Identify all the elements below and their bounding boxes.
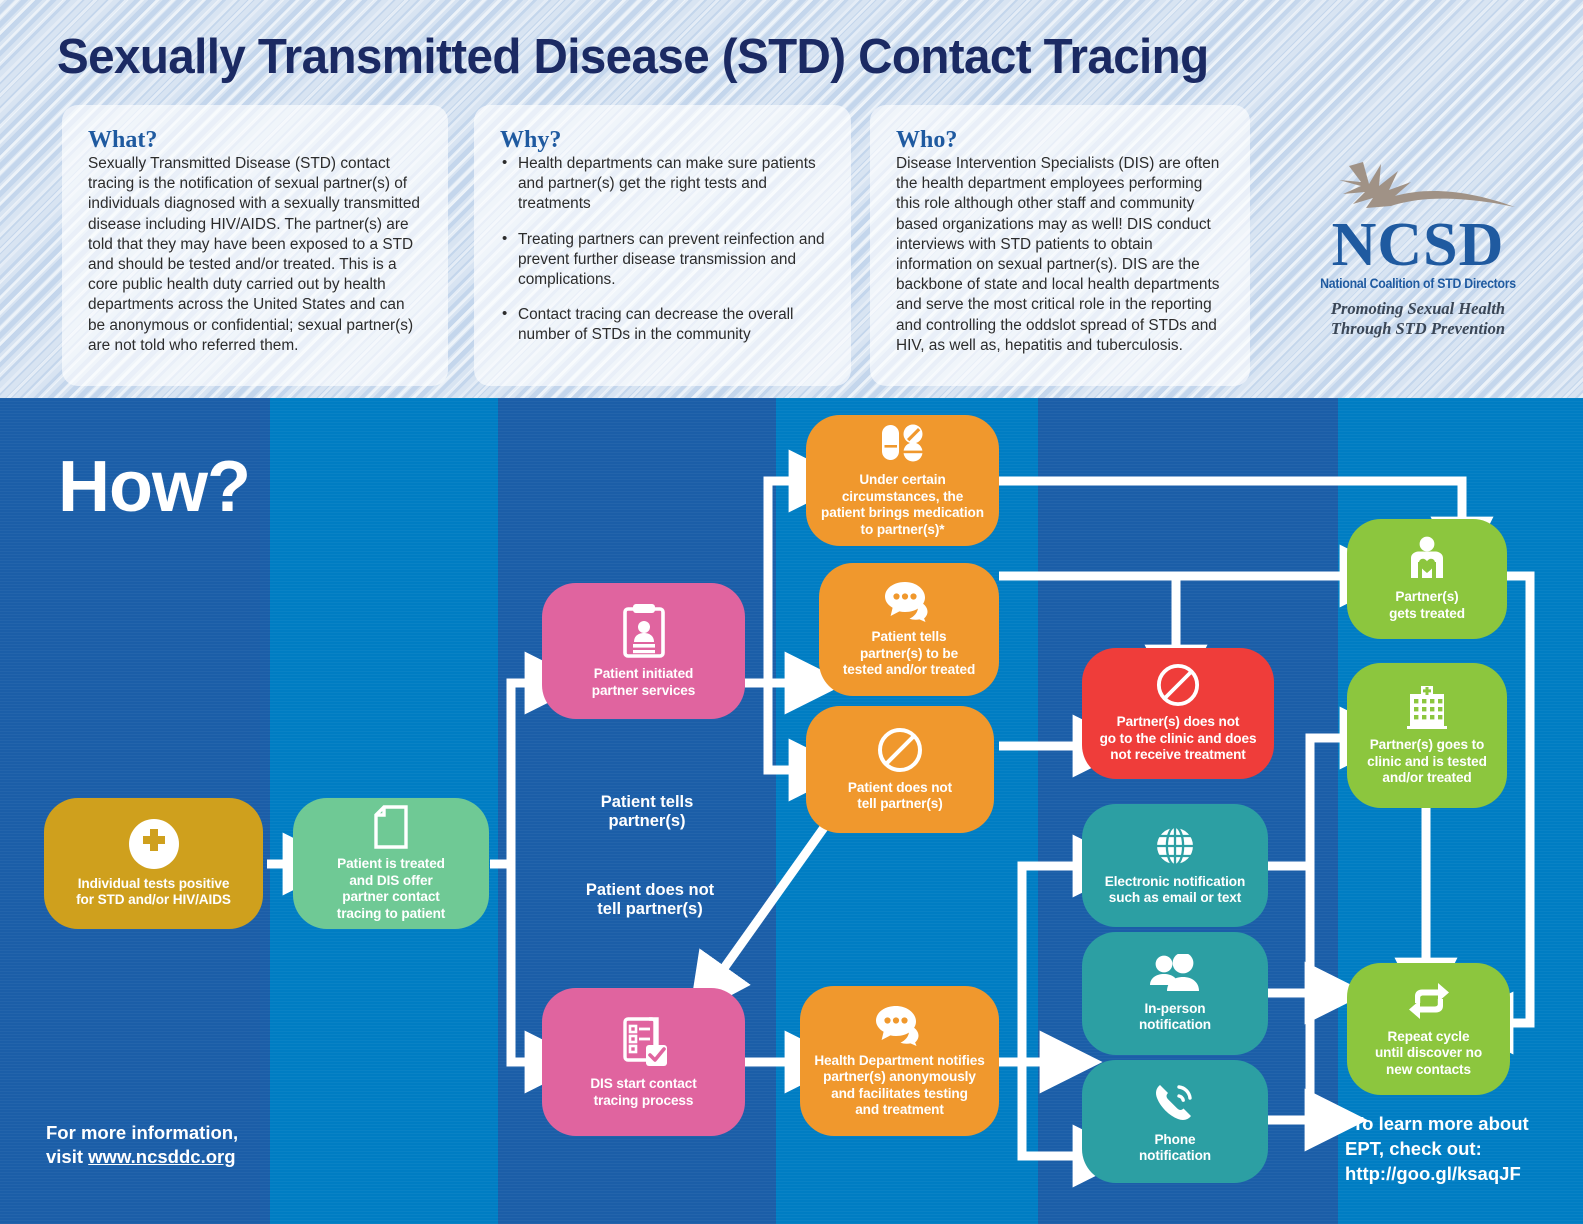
flowchart-section: How? <box>0 398 1583 1224</box>
node-patient-brings-medication[interactable]: Under certaincircumstances, thepatient b… <box>806 415 999 546</box>
footer-ept-note: *To learn more about EPT, check out: htt… <box>1345 1111 1529 1186</box>
node-patient-treated-dis-offer[interactable]: Patient is treatedand DIS offerpartner c… <box>293 798 489 929</box>
prohibited-icon <box>877 727 923 773</box>
node-label: Patient tellspartner(s) to betested and/… <box>843 629 975 679</box>
card-who-heading: Who? <box>896 127 1226 153</box>
logo-acronym: NCSD <box>1278 216 1558 274</box>
node-health-department-notifies[interactable]: Health Department notifiespartner(s) ano… <box>800 986 999 1136</box>
list-item: Contact tracing can decrease the overall… <box>500 305 827 345</box>
footer-visit-prefix: visit <box>46 1146 88 1167</box>
node-label: DIS start contacttracing process <box>590 1076 696 1109</box>
logo-tagline-line1: Promoting Sexual Health <box>1278 299 1558 319</box>
footer-website-link[interactable]: www.ncsddc.org <box>88 1146 235 1167</box>
node-patient-does-not-tell-partners[interactable]: Patient does nottell partner(s) <box>806 706 994 833</box>
edge-label-patient-does-not-tell: Patient does nottell partner(s) <box>555 881 745 919</box>
card-who-body: Disease Intervention Specialists (DIS) a… <box>896 154 1226 356</box>
footer-ept-line2: EPT, check out: <box>1345 1136 1529 1161</box>
infographic-page: Sexually Transmitted Disease (STD) Conta… <box>0 0 1583 1224</box>
document-icon <box>373 805 409 849</box>
globe-icon <box>1154 825 1196 867</box>
section-title-how: How? <box>58 448 250 526</box>
footer-ept-line1: *To learn more about <box>1345 1111 1529 1136</box>
header-banner: Sexually Transmitted Disease (STD) Conta… <box>0 0 1583 398</box>
card-who: Who? Disease Intervention Specialists (D… <box>870 105 1250 386</box>
node-label: Partner(s) does notgo to the clinic and … <box>1100 714 1257 764</box>
node-label: Health Department notifiespartner(s) ano… <box>814 1053 984 1119</box>
card-what-heading: What? <box>88 127 424 153</box>
list-item: Treating partners can prevent reinfectio… <box>500 230 827 291</box>
card-why: Why? Health departments can make sure pa… <box>474 105 851 386</box>
speech-bubbles-icon <box>874 1004 926 1046</box>
clipboard-person-icon <box>620 603 668 659</box>
card-what: What? Sexually Transmitted Disease (STD)… <box>62 105 448 386</box>
person-heart-icon <box>1405 536 1449 582</box>
node-electronic-notification[interactable]: Electronic notificationsuch as email or … <box>1082 804 1268 927</box>
node-label: Repeat cycleuntil discover nonew contact… <box>1375 1029 1482 1079</box>
hospital-icon <box>1402 684 1452 730</box>
node-label: Patient does nottell partner(s) <box>848 780 952 813</box>
node-repeat-cycle[interactable]: Repeat cycleuntil discover nonew contact… <box>1347 963 1510 1095</box>
prohibited-icon <box>1156 663 1200 707</box>
node-label: Patient initiatedpartner services <box>592 666 695 699</box>
node-label: Electronic notificationsuch as email or … <box>1105 874 1245 907</box>
checklist-icon <box>619 1015 669 1069</box>
node-label: Partner(s) goes toclinic and is testedan… <box>1367 737 1487 787</box>
node-label: Partner(s)gets treated <box>1389 589 1465 622</box>
node-phone-notification[interactable]: Phonenotification <box>1082 1060 1268 1183</box>
node-individual-tests-positive[interactable]: Individual tests positivefor STD and/or … <box>44 798 263 929</box>
page-title: Sexually Transmitted Disease (STD) Conta… <box>57 28 1209 86</box>
node-label: In-personnotification <box>1139 1001 1211 1034</box>
node-label: Under certaincircumstances, thepatient b… <box>821 472 984 538</box>
footer-more-info-line1: For more information, <box>46 1121 238 1145</box>
node-partner-does-not-go-clinic[interactable]: Partner(s) does notgo to the clinic and … <box>1082 648 1274 779</box>
card-why-heading: Why? <box>500 127 827 153</box>
ncsd-logo: NCSD National Coalition of STD Directors… <box>1278 158 1558 339</box>
two-people-icon <box>1149 954 1201 994</box>
node-dis-start-contact-tracing[interactable]: DIS start contacttracing process <box>542 988 745 1136</box>
node-patient-tells-partners-tested[interactable]: Patient tellspartner(s) to betested and/… <box>819 563 999 696</box>
phone-icon <box>1152 1079 1198 1125</box>
node-label: Individual tests positivefor STD and/or … <box>76 876 231 909</box>
node-partners-gets-treated[interactable]: Partner(s)gets treated <box>1347 519 1507 639</box>
node-patient-initiated-partner-services[interactable]: Patient initiatedpartner services <box>542 583 745 719</box>
node-in-person-notification[interactable]: In-personnotification <box>1082 932 1268 1055</box>
node-label: Patient is treatedand DIS offerpartner c… <box>337 856 445 922</box>
node-partners-goes-to-clinic[interactable]: Partner(s) goes toclinic and is testedan… <box>1347 663 1507 808</box>
logo-tagline-line2: Through STD Prevention <box>1278 319 1558 339</box>
list-item: Health departments can make sure patient… <box>500 154 827 215</box>
logo-subtitle: National Coalition of STD Directors <box>1289 276 1547 291</box>
pill-capsule-icon <box>879 423 927 465</box>
footer-more-info: For more information, visit www.ncsddc.o… <box>46 1121 238 1169</box>
footer-ept-link[interactable]: http://goo.gl/ksaqJF <box>1345 1161 1529 1186</box>
card-what-body: Sexually Transmitted Disease (STD) conta… <box>88 154 424 356</box>
card-why-list: Health departments can make sure patient… <box>500 154 827 346</box>
medical-cross-circle-icon <box>129 819 179 869</box>
node-label: Phonenotification <box>1139 1132 1211 1165</box>
edge-label-patient-tells-partners: Patient tellspartner(s) <box>562 793 732 831</box>
speech-bubbles-icon <box>883 580 935 622</box>
repeat-cycle-icon <box>1405 980 1453 1022</box>
